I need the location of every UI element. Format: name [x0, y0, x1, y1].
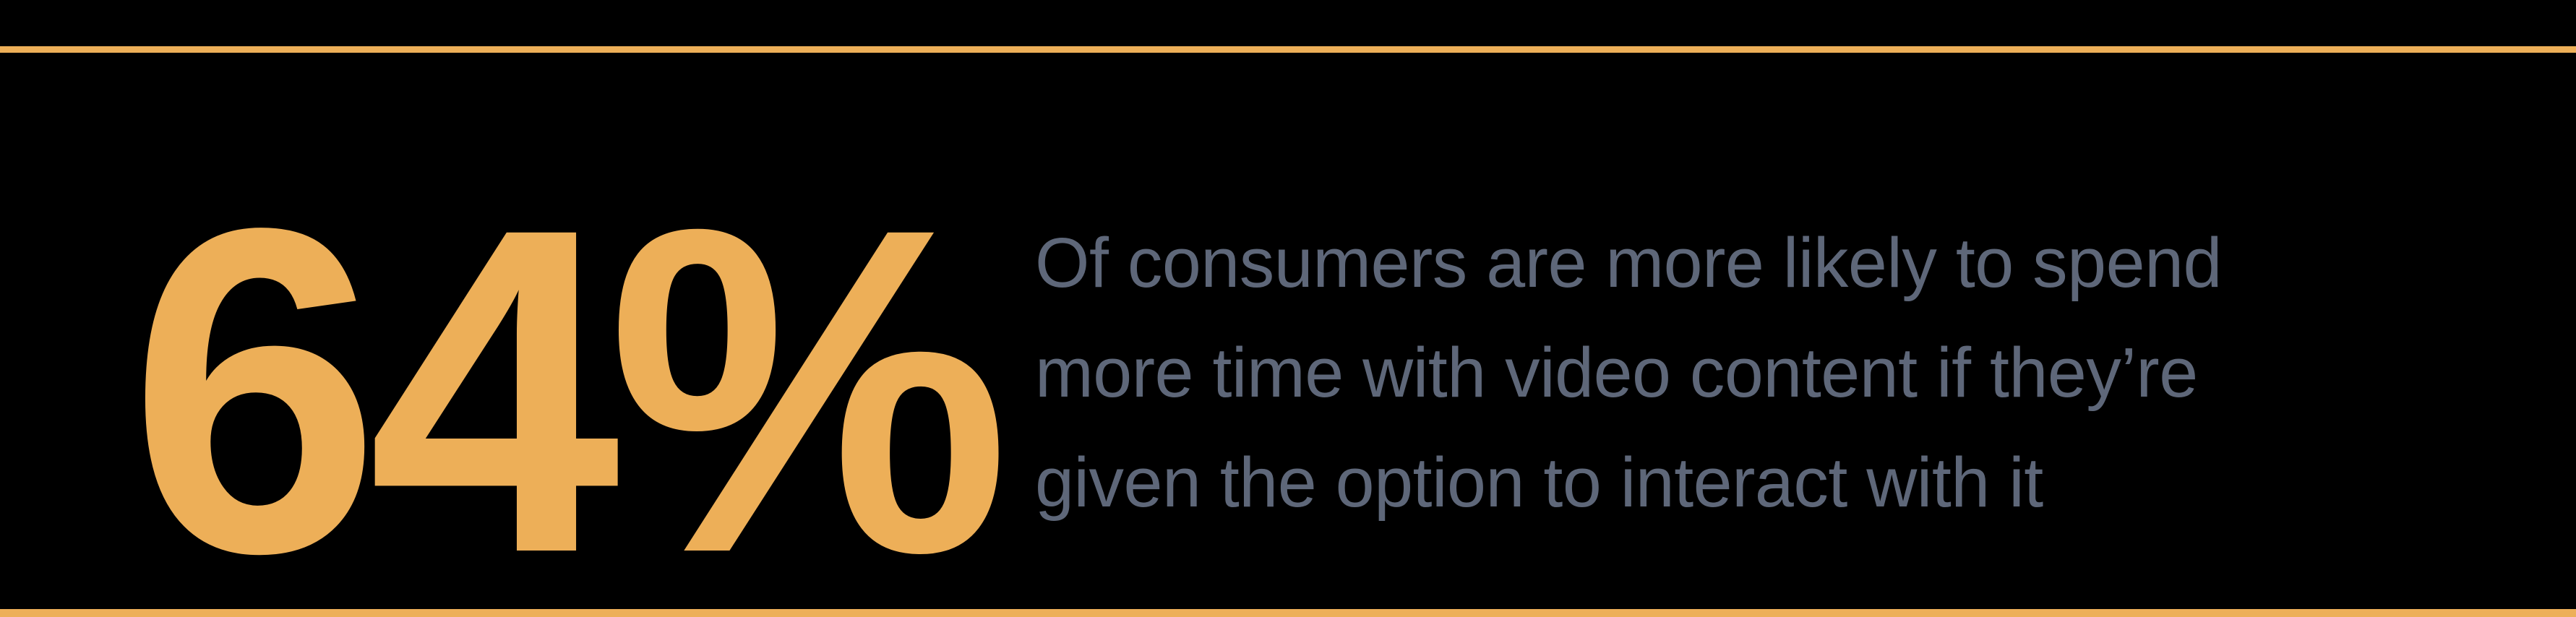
banner-content-row: 64% Of consumers are more likely to spen… — [0, 53, 2576, 609]
statistic-banner: 64% Of consumers are more likely to spen… — [0, 0, 2576, 617]
description-line-2: more time with video content if they’re — [1035, 318, 2481, 428]
description-line-3: given the option to interact with it — [1035, 428, 2481, 538]
statistic-description: Of consumers are more likely to spend mo… — [1035, 208, 2481, 538]
statistic-value: 64% — [129, 160, 997, 617]
top-accent-rule — [0, 46, 2576, 53]
bottom-accent-rule — [0, 609, 2576, 617]
description-line-1: Of consumers are more likely to spend — [1035, 208, 2481, 318]
